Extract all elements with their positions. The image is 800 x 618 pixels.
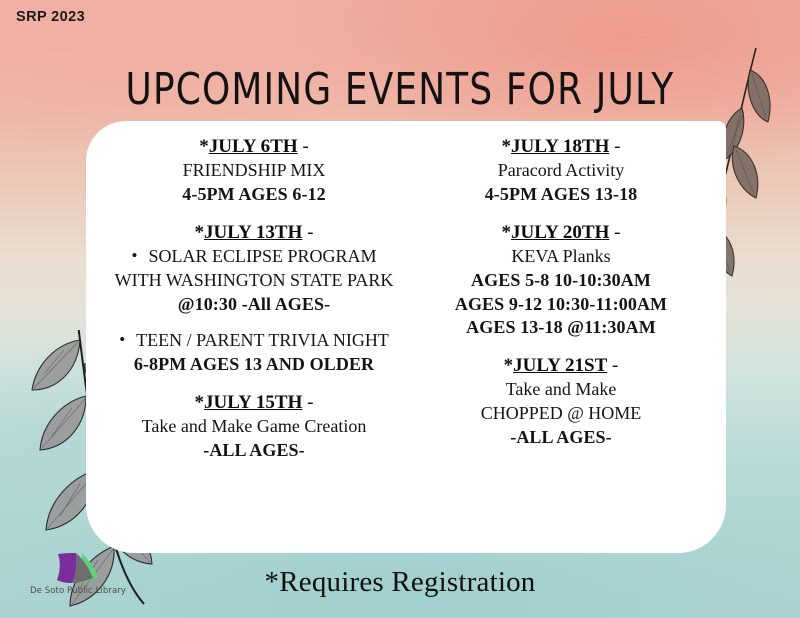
event-entry: *JULY 6TH -FRIENDSHIP MIX4-5PM AGES 6-12 bbox=[106, 135, 402, 207]
event-line-text: -ALL AGES- bbox=[106, 439, 402, 463]
event-date-label: JULY 18TH bbox=[511, 136, 609, 157]
event-line-spacer bbox=[106, 316, 402, 329]
events-card: *JULY 6TH -FRIENDSHIP MIX4-5PM AGES 6-12… bbox=[86, 121, 726, 553]
event-line-text: AGES 13-18 @11:30AM bbox=[412, 316, 710, 340]
event-line-text: FRIENDSHIP MIX bbox=[106, 159, 402, 183]
event-date-heading: *JULY 21ST - bbox=[412, 354, 710, 378]
event-line-text: Paracord Activity bbox=[412, 159, 710, 183]
event-date-heading: *JULY 15TH - bbox=[106, 391, 402, 415]
event-line-text: CHOPPED @ HOME bbox=[412, 402, 710, 426]
event-line-text: AGES 9-12 10:30-11:00AM bbox=[412, 293, 710, 317]
event-date-heading: *JULY 13TH - bbox=[106, 221, 402, 245]
event-line-text: 4-5PM AGES 13-18 bbox=[412, 183, 710, 207]
event-date-label: JULY 21ST bbox=[513, 355, 607, 376]
event-line-text: Take and Make Game Creation bbox=[106, 415, 402, 439]
event-date-label: JULY 20TH bbox=[511, 222, 609, 243]
event-entry: *JULY 18TH -Paracord Activity4-5PM AGES … bbox=[412, 135, 710, 207]
event-date-heading: *JULY 18TH - bbox=[412, 135, 710, 159]
event-date-heading: *JULY 20TH - bbox=[412, 221, 710, 245]
events-column-left: *JULY 6TH -FRIENDSHIP MIX4-5PM AGES 6-12… bbox=[92, 135, 406, 547]
event-entry: *JULY 15TH -Take and Make Game Creation-… bbox=[106, 391, 402, 463]
requires-registration-asterisk: * bbox=[504, 355, 514, 376]
event-entry: *JULY 20TH -KEVA PlanksAGES 5-8 10-10:30… bbox=[412, 221, 710, 340]
event-date-label: JULY 6TH bbox=[209, 136, 298, 157]
event-entry: *JULY 13TH -•SOLAR ECLIPSE PROGRAMWITH W… bbox=[106, 221, 402, 377]
event-date-dash: - bbox=[302, 392, 313, 413]
library-name: De Soto Public Library bbox=[22, 586, 134, 596]
requires-registration-asterisk: * bbox=[502, 222, 512, 243]
event-line-text: KEVA Planks bbox=[412, 245, 710, 269]
event-date-dash: - bbox=[302, 222, 313, 243]
requires-registration-asterisk: * bbox=[199, 136, 209, 157]
event-date-label: JULY 13TH bbox=[204, 222, 302, 243]
event-line-text: WITH WASHINGTON STATE PARK bbox=[106, 269, 402, 293]
bullet-icon: • bbox=[119, 329, 125, 351]
event-bullet-line: •TEEN / PARENT TRIVIA NIGHT bbox=[106, 329, 402, 353]
book-fan-icon bbox=[52, 551, 104, 585]
event-date-dash: - bbox=[609, 136, 620, 157]
event-line-text: -ALL AGES- bbox=[412, 426, 710, 450]
event-line-text: AGES 5-8 10-10:30AM bbox=[412, 269, 710, 293]
page-title: UPCOMING EVENTS FOR JULY bbox=[12, 64, 788, 115]
event-line-text: 6-8PM AGES 13 AND OLDER bbox=[106, 353, 402, 377]
event-date-dash: - bbox=[609, 222, 620, 243]
event-entry: *JULY 21ST -Take and MakeCHOPPED @ HOME-… bbox=[412, 354, 710, 450]
event-bullet-line: •SOLAR ECLIPSE PROGRAM bbox=[106, 245, 402, 269]
library-logo: De Soto Public Library bbox=[22, 551, 134, 596]
event-line-text: @10:30 -All AGES- bbox=[106, 293, 402, 317]
event-date-dash: - bbox=[298, 136, 309, 157]
requires-registration-asterisk: * bbox=[195, 222, 205, 243]
event-line-text: 4-5PM AGES 6-12 bbox=[106, 183, 402, 207]
event-date-label: JULY 15TH bbox=[204, 392, 302, 413]
srp-year-tag: SRP 2023 bbox=[16, 9, 85, 25]
event-poster: SRP 2023 UPCOMING EVENTS FOR JULY *JULY … bbox=[0, 0, 800, 618]
event-date-heading: *JULY 6TH - bbox=[106, 135, 402, 159]
event-line-text: SOLAR ECLIPSE PROGRAM bbox=[148, 245, 376, 269]
events-column-right: *JULY 18TH -Paracord Activity4-5PM AGES … bbox=[406, 135, 720, 547]
event-line-text: TEEN / PARENT TRIVIA NIGHT bbox=[136, 329, 389, 353]
requires-registration-asterisk: * bbox=[502, 136, 512, 157]
event-date-dash: - bbox=[607, 355, 618, 376]
requires-registration-asterisk: * bbox=[195, 392, 205, 413]
event-line-text: Take and Make bbox=[412, 378, 710, 402]
bullet-icon: • bbox=[132, 245, 138, 267]
